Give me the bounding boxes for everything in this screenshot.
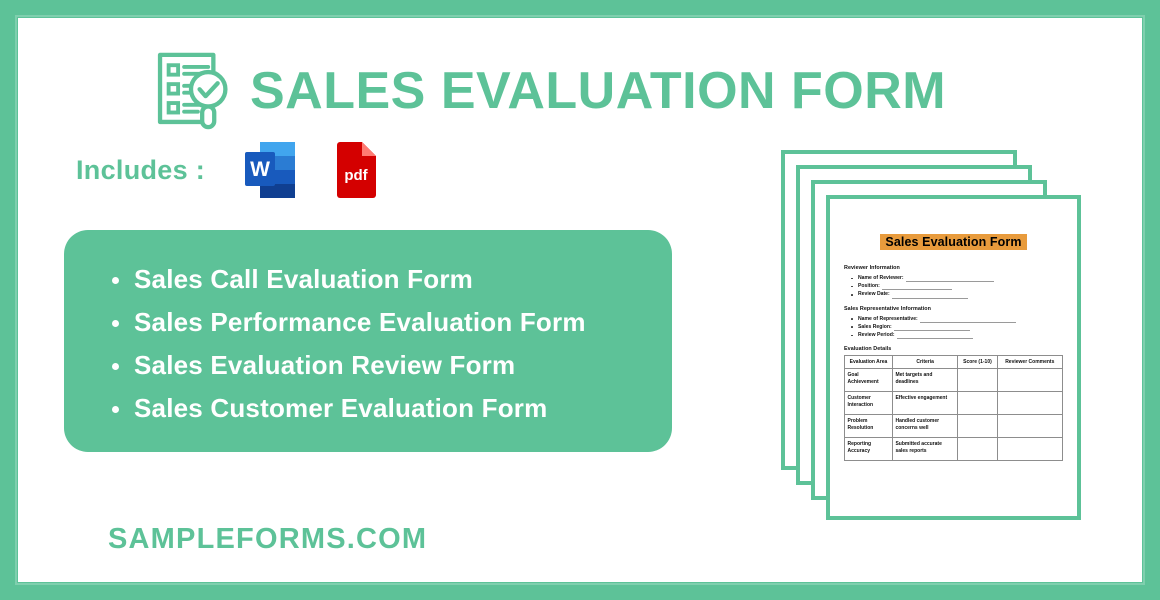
page-frame: SALES EVALUATION FORM Includes : W — [0, 0, 1160, 600]
field-rule — [892, 293, 968, 299]
form-preview-page: Sales Evaluation Form Reviewer Informati… — [830, 199, 1077, 516]
cell-criteria: Met targets and deadlines — [892, 369, 957, 392]
pdf-file-icon[interactable]: pdf — [333, 142, 379, 198]
form-field-row: Review Period: — [858, 331, 1063, 339]
form-field-row: Position: — [858, 282, 1063, 290]
field-label: Review Date: — [858, 291, 890, 297]
evaluation-table: Evaluation Area Criteria Score (1-10) Re… — [844, 355, 1063, 461]
table-header-row: Evaluation Area Criteria Score (1-10) Re… — [845, 356, 1063, 369]
form-title-highlight: Sales Evaluation Form — [880, 234, 1026, 250]
table-row: Goal Achievement Met targets and deadlin… — [845, 369, 1063, 392]
cell-criteria: Handled customer concerns well — [892, 415, 957, 438]
cell-comments[interactable] — [997, 415, 1062, 438]
cell-score[interactable] — [958, 438, 997, 461]
cell-score[interactable] — [958, 369, 997, 392]
table-row: Problem Resolution Handled customer conc… — [845, 415, 1063, 438]
form-title-wrap: Sales Evaluation Form — [844, 233, 1063, 251]
svg-text:W: W — [250, 158, 270, 181]
column-header-score: Score (1-10) — [958, 356, 997, 369]
table-row: Customer Interaction Effective engagemen… — [845, 392, 1063, 415]
cell-score[interactable] — [958, 415, 997, 438]
list-item[interactable]: Sales Customer Evaluation Form — [110, 387, 672, 430]
cell-comments[interactable] — [997, 438, 1062, 461]
includes-row: Includes : W pdf — [76, 140, 379, 200]
cell-area: Customer Interaction — [845, 392, 893, 415]
form-field-row: Review Date: — [858, 290, 1063, 298]
form-field-row: Sales Region: — [858, 323, 1063, 331]
field-label: Sales Region: — [858, 324, 892, 330]
cell-comments[interactable] — [997, 369, 1062, 392]
section-heading-evaluation-details: Evaluation Details — [844, 346, 1063, 352]
column-header-area: Evaluation Area — [845, 356, 893, 369]
document-checklist-search-icon — [148, 48, 234, 134]
reviewer-field-list: Name of Reviewer: Position: Review Date: — [844, 274, 1063, 299]
table-row: Reporting Accuracy Submitted accurate sa… — [845, 438, 1063, 461]
content-canvas: SALES EVALUATION FORM Includes : W — [18, 18, 1142, 582]
cell-area: Problem Resolution — [845, 415, 893, 438]
svg-text:pdf: pdf — [344, 167, 368, 184]
cell-score[interactable] — [958, 392, 997, 415]
column-header-criteria: Criteria — [892, 356, 957, 369]
form-list-card: Sales Call Evaluation Form Sales Perform… — [64, 230, 672, 452]
field-label: Name of Reviewer: — [858, 275, 904, 281]
site-footer: SAMPLEFORMS.COM — [108, 523, 427, 556]
document-sheet-front[interactable]: Sales Evaluation Form Reviewer Informati… — [826, 195, 1081, 520]
field-label: Review Period: — [858, 332, 895, 338]
field-label: Position: — [858, 283, 880, 289]
field-label: Name of Representative: — [858, 316, 918, 322]
list-item[interactable]: Sales Call Evaluation Form — [110, 258, 672, 301]
file-format-icons: W pdf — [243, 140, 379, 200]
section-heading-reviewer: Reviewer Information — [844, 265, 1063, 271]
page-header: SALES EVALUATION FORM — [148, 48, 946, 134]
field-rule — [897, 333, 973, 339]
cell-comments[interactable] — [997, 392, 1062, 415]
cell-area: Goal Achievement — [845, 369, 893, 392]
form-list: Sales Call Evaluation Form Sales Perform… — [64, 230, 672, 430]
cell-criteria: Submitted accurate sales reports — [892, 438, 957, 461]
form-field-row: Name of Reviewer: — [858, 274, 1063, 282]
cell-criteria: Effective engagement — [892, 392, 957, 415]
representative-field-list: Name of Representative: Sales Region: Re… — [844, 315, 1063, 340]
column-header-comments: Reviewer Comments — [997, 356, 1062, 369]
word-file-icon[interactable]: W — [243, 140, 297, 200]
page-title: SALES EVALUATION FORM — [250, 65, 946, 117]
list-item[interactable]: Sales Performance Evaluation Form — [110, 301, 672, 344]
document-preview-stack: Sales Evaluation Form Reviewer Informati… — [781, 150, 1081, 520]
form-field-row: Name of Representative: — [858, 315, 1063, 323]
includes-label: Includes : — [76, 155, 205, 186]
list-item[interactable]: Sales Evaluation Review Form — [110, 344, 672, 387]
cell-area: Reporting Accuracy — [845, 438, 893, 461]
section-heading-representative: Sales Representative Information — [844, 306, 1063, 312]
